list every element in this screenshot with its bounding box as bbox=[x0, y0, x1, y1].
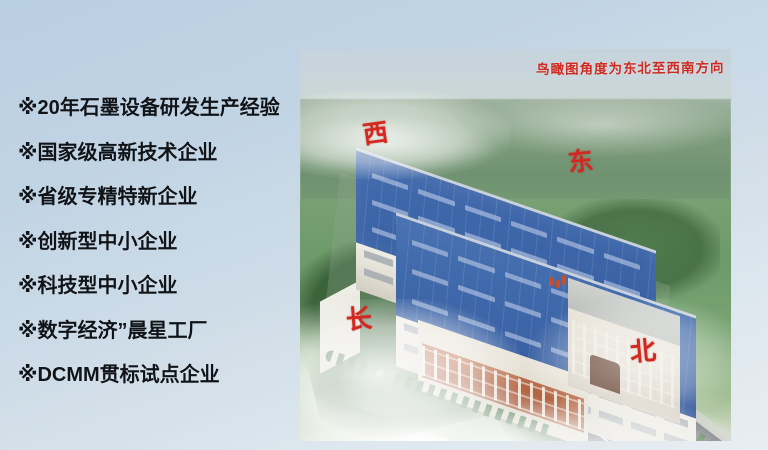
skylight bbox=[511, 220, 547, 238]
slide-root: ※20年石墨设备研发生产经验 ※国家级高新技术企业 ※省级专精特新企业 ※创新型… bbox=[0, 0, 768, 450]
direction-marker-chang: 长 bbox=[345, 306, 373, 334]
worker-figure bbox=[562, 275, 566, 285]
skylight bbox=[458, 315, 494, 333]
list-item: ※20年石墨设备研发生产经验 bbox=[18, 98, 308, 118]
worker-figure bbox=[556, 280, 560, 288]
window bbox=[664, 432, 688, 441]
list-item: ※科技型中小企业 bbox=[18, 276, 308, 296]
list-item: ※省级专精特新企业 bbox=[18, 187, 308, 207]
list-item: ※国家级高新技术企业 bbox=[18, 143, 308, 163]
window bbox=[599, 410, 623, 425]
skylight bbox=[557, 236, 593, 254]
skylight bbox=[412, 240, 448, 258]
window bbox=[631, 421, 655, 436]
skylight bbox=[505, 272, 541, 290]
skylight bbox=[372, 172, 408, 190]
skylight bbox=[465, 204, 501, 222]
skylight bbox=[505, 331, 541, 349]
aerial-view-image: 西 东 长 北 鸟瞰图角度为东北至西南方向 bbox=[300, 49, 731, 441]
window bbox=[364, 268, 393, 285]
worker-figure bbox=[550, 277, 554, 286]
list-item: ※创新型中小企业 bbox=[18, 232, 308, 252]
entrance-office-building bbox=[568, 297, 680, 405]
direction-marker-west: 西 bbox=[361, 119, 389, 147]
direction-marker-east: 东 bbox=[567, 148, 594, 175]
skylight bbox=[412, 269, 448, 287]
skylight bbox=[458, 256, 494, 274]
company-credentials-list: ※20年石墨设备研发生产经验 ※国家级高新技术企业 ※省级专精特新企业 ※创新型… bbox=[18, 98, 308, 410]
direction-marker-north: 北 bbox=[629, 338, 657, 366]
skylight bbox=[418, 188, 454, 206]
skylight bbox=[458, 285, 494, 303]
skylight bbox=[412, 299, 448, 317]
list-item: ※数字经济”晨星工厂 bbox=[18, 321, 308, 341]
aerial-view-caption: 鸟瞰图角度为东北至西南方向 bbox=[536, 56, 725, 78]
list-item: ※DCMM贯标试点企业 bbox=[18, 365, 308, 385]
skylight bbox=[505, 301, 541, 319]
factory-complex bbox=[300, 49, 731, 441]
